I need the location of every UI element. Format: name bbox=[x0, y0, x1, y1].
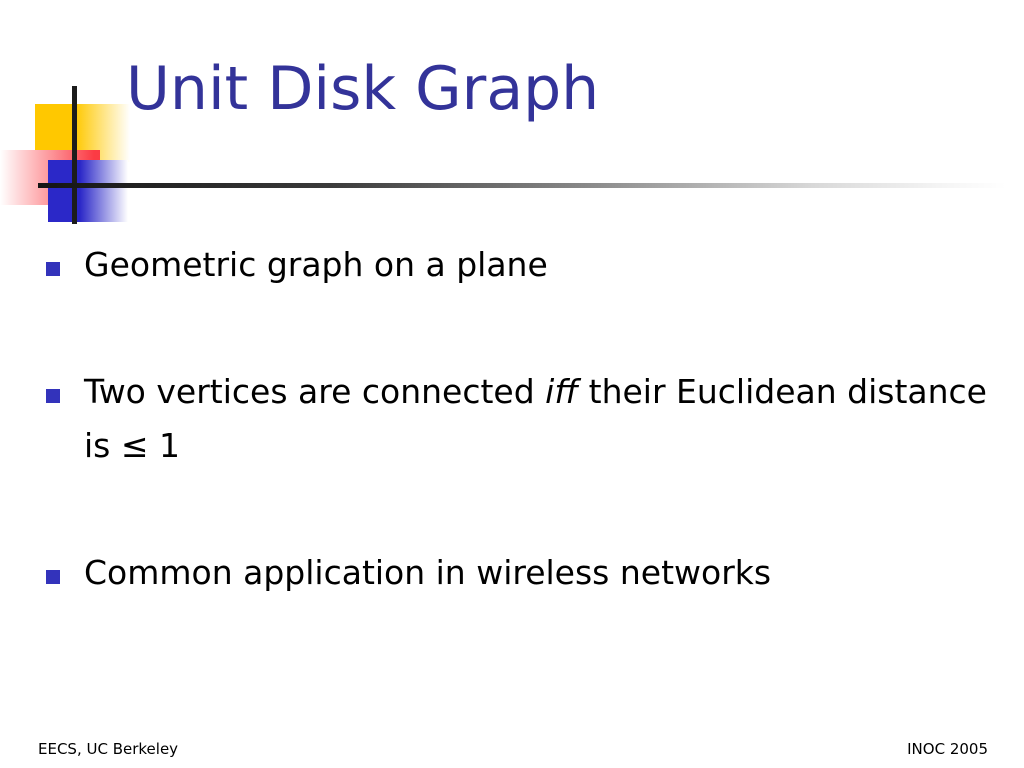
bullet-square-icon bbox=[46, 262, 60, 276]
vertical-rule-decoration bbox=[72, 86, 77, 224]
list-spacer bbox=[44, 292, 1004, 365]
horizontal-rule-divider bbox=[38, 183, 1006, 188]
list-item: Geometric graph on a plane bbox=[44, 238, 1004, 292]
footer-affiliation: EECS, UC Berkeley bbox=[38, 739, 178, 759]
bullet-square-icon bbox=[46, 389, 60, 403]
blue-square-decoration bbox=[48, 160, 128, 222]
page-title: Unit Disk Graph bbox=[126, 54, 599, 124]
footer-conference: INOC 2005 bbox=[907, 739, 988, 759]
list-item: Common application in wireless networks bbox=[44, 546, 1004, 600]
red-square-decoration bbox=[0, 150, 100, 205]
list-spacer bbox=[44, 473, 1004, 546]
list-item-label: Geometric graph on a plane bbox=[84, 238, 1004, 292]
bullet-list: Geometric graph on a plane Two vertices … bbox=[44, 238, 1004, 600]
list-item: Two vertices are connected iff their Euc… bbox=[44, 365, 1004, 473]
presentation-slide: Unit Disk Graph Geometric graph on a pla… bbox=[0, 0, 1024, 768]
list-item-label: Two vertices are connected iff their Euc… bbox=[84, 365, 1004, 473]
list-item-label: Common application in wireless networks bbox=[84, 546, 1004, 600]
bullet-square-icon bbox=[46, 570, 60, 584]
list-item-label-lead: Two vertices are connected bbox=[84, 372, 545, 411]
list-item-label-emphasis: iff bbox=[545, 372, 578, 411]
yellow-square-decoration bbox=[35, 104, 130, 162]
